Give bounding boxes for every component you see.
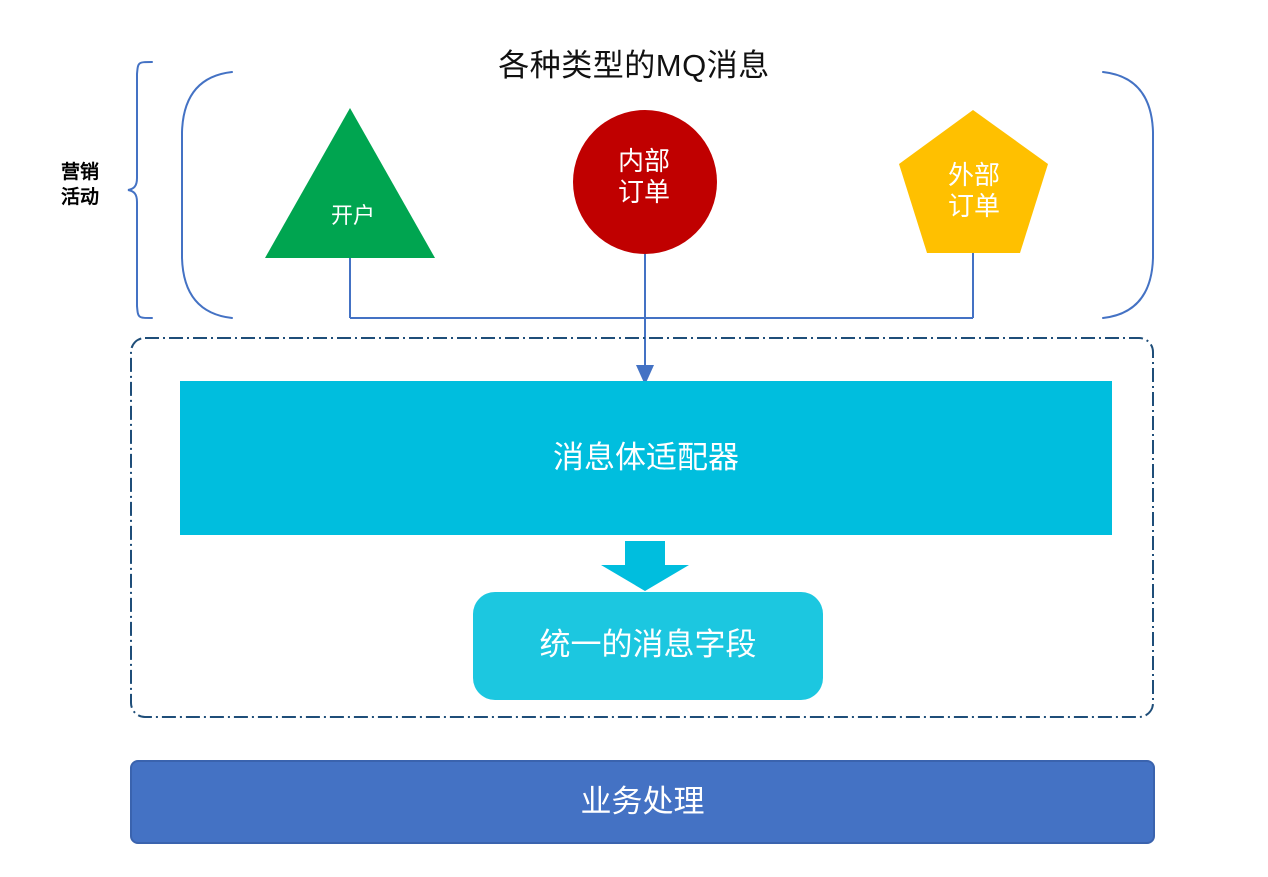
left-paren-bracket xyxy=(182,72,232,318)
shape-open-account xyxy=(265,108,435,258)
down-arrow-icon xyxy=(601,541,689,591)
diagram-canvas: 各种类型的MQ消息 营销 活动 开户 内部 订单 外部 订单 消息体适配器 统一… xyxy=(0,0,1268,877)
group-label-marketing-activity: 营销 活动 xyxy=(34,160,126,210)
shape-internal-order xyxy=(573,110,717,254)
right-paren-bracket xyxy=(1103,72,1153,318)
diagram-geometry xyxy=(0,0,1268,877)
business-bar xyxy=(131,761,1154,843)
group-brace xyxy=(128,62,152,318)
unified-field-box xyxy=(473,592,823,700)
page-title: 各种类型的MQ消息 xyxy=(334,40,934,85)
adapter-bar xyxy=(180,381,1112,535)
shape-external-order xyxy=(899,110,1048,253)
